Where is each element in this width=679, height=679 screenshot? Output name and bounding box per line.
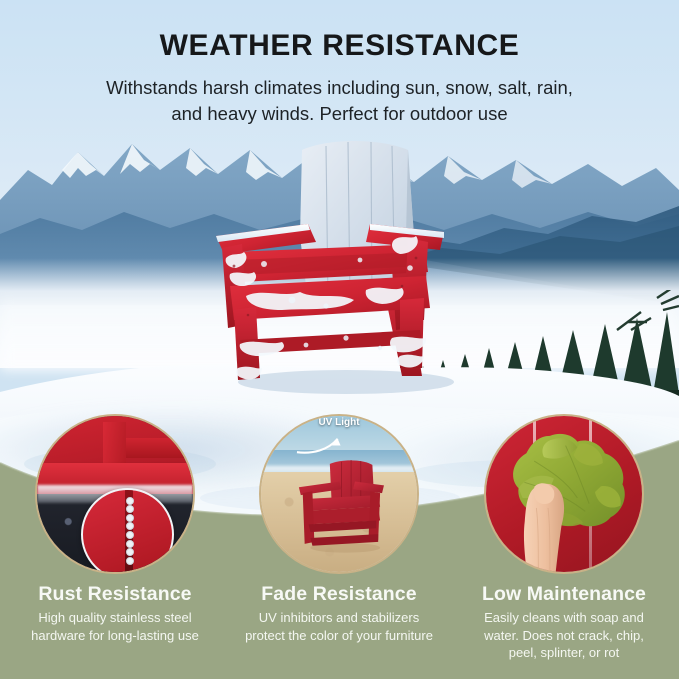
feature-low-maintenance[interactable]: Low Maintenance Easily cleans with soap … xyxy=(451,414,677,661)
feature-image-fade-resistance: UV Light xyxy=(259,414,419,574)
feature-description: High quality stainless steel hardware fo… xyxy=(2,609,228,644)
feature-rust-resistance[interactable]: Rust Resistance High quality stainless s… xyxy=(2,414,228,644)
feature-fade-resistance[interactable]: UV Light xyxy=(226,414,452,644)
feature-image-rust-resistance xyxy=(35,414,195,574)
magnifier-inset xyxy=(81,488,175,574)
hand-illustration xyxy=(517,475,573,572)
uv-light-arrow-icon xyxy=(295,433,367,458)
feature-description: Easily cleans with soap and water. Does … xyxy=(451,609,677,661)
feature-title: Rust Resistance xyxy=(2,584,228,605)
feature-image-low-maintenance xyxy=(484,414,644,574)
page-subtitle: Withstands harsh climates including sun,… xyxy=(0,75,679,126)
weather-resistance-infographic: WEATHER RESISTANCE Withstands harsh clim… xyxy=(0,0,679,679)
hero-chair-illustration xyxy=(196,140,486,395)
uv-light-label: UV Light xyxy=(318,417,359,428)
stainless-screw-chain xyxy=(124,495,136,567)
page-title: WEATHER RESISTANCE xyxy=(0,31,679,61)
beach-chair-illustration xyxy=(295,460,392,554)
header-block: WEATHER RESISTANCE Withstands harsh clim… xyxy=(0,0,679,126)
feature-description: UV inhibitors and stabilizers protect th… xyxy=(226,609,452,644)
feature-title: Fade Resistance xyxy=(226,584,452,605)
feature-title: Low Maintenance xyxy=(451,584,677,605)
features-row: Rust Resistance High quality stainless s… xyxy=(0,414,679,679)
